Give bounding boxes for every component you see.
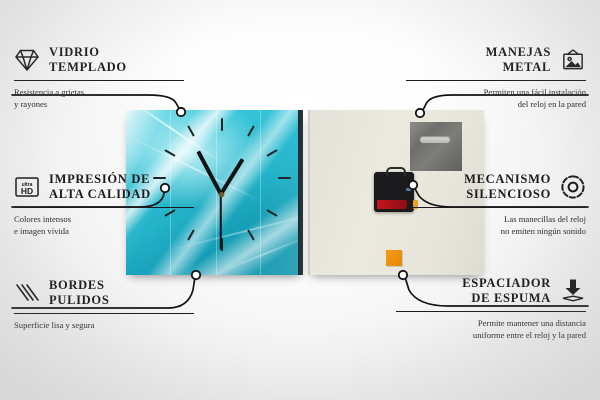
divider [14,80,184,81]
second-hand [220,194,222,250]
callout-subtitle: Superficie lisa y segura [14,319,194,331]
callout-vidrio-templado: VIDRIO TEMPLADO Resistencia a grietas y … [14,45,184,110]
callout-title: ESPACIADOR DE ESPUMA [462,276,551,306]
divider [396,311,586,312]
callout-title: IMPRESIÓN DE ALTA CALIDAD [49,172,151,202]
polished-edges-icon [14,280,40,306]
callout-title: VIDRIO TEMPLADO [49,45,127,75]
callout-subtitle: Permiten una fácil instalación del reloj… [406,86,586,110]
callout-title: BORDES PULIDOS [49,278,109,308]
clock-center-pin [219,192,224,197]
callout-subtitle: Resistencia a grietas y rayones [14,86,184,110]
callout-subtitle: Permite mantener una distancia uniforme … [396,317,586,341]
svg-text:HD: HD [21,186,33,196]
battery [377,200,407,209]
callout-title: MECANISMO SILENCIOSO [464,172,551,202]
ultra-hd-icon: ultra HD [14,174,40,200]
foam-spacer [386,250,402,266]
callout-subtitle: Colores intensos e imagen vívida [14,213,194,237]
callout-title: MANEJAS METAL [486,45,551,75]
divider [406,207,586,208]
callout-manejas-metal: MANEJAS METAL Permiten una fácil instala… [406,45,586,110]
callout-bordes-pulidos: BORDES PULIDOS Superficie lisa y segura [14,278,194,331]
clock-tick [221,118,223,131]
callout-mecanismo-silencioso: MECANISMO SILENCIOSO Las manecillas del … [406,172,586,237]
arrow-down-layers-icon [560,278,586,304]
diamond-icon [14,47,40,73]
callout-espaciador-espuma: ESPACIADOR DE ESPUMA Permite mantener un… [396,276,586,341]
callout-subtitle: Las manecillas del reloj no emiten ningú… [406,213,586,237]
clock-tick [278,177,291,179]
divider [406,80,586,81]
wall-frame-icon [560,47,586,73]
gear-icon [560,174,586,200]
clock-side-edge [298,110,303,275]
infographic-canvas: VIDRIO TEMPLADO Resistencia a grietas y … [0,0,600,400]
callout-impresion-alta-calidad: ultra HD IMPRESIÓN DE ALTA CALIDAD Color… [14,172,194,237]
metal-hanger-icon [410,122,462,171]
divider [14,207,194,208]
divider [14,313,194,314]
